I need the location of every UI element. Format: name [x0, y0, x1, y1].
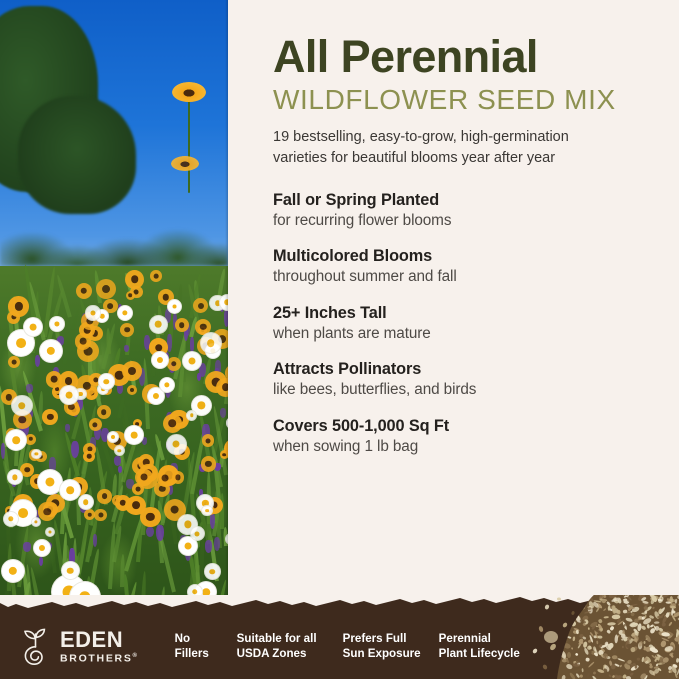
purple-salvia	[156, 525, 163, 541]
feature-item-planting: Fall or Spring Planted for recurring flo…	[273, 191, 679, 230]
black-eyed-susan	[167, 357, 181, 371]
badge-plant-lifecycle: Perennial Plant Lifecycle	[439, 631, 549, 662]
feature-subtext: like bees, butterflies, and birds	[273, 381, 679, 399]
feature-item-pollinators: Attracts Pollinators like bees, butterfl…	[273, 360, 679, 399]
shasta-daisy	[86, 306, 99, 319]
shasta-daisy	[12, 396, 32, 416]
shasta-daisy	[201, 333, 221, 353]
product-infographic-card: All Perennial WILDFLOWER SEED MIX 19 bes…	[0, 0, 679, 679]
product-details-panel: All Perennial WILDFLOWER SEED MIX 19 bes…	[228, 0, 679, 679]
badge-usda-zones: Suitable for all USDA Zones	[237, 631, 343, 662]
feature-subtext: throughout summer and fall	[273, 268, 679, 286]
footer-content: EDEN BROTHERS® No Fillers Suitable for a…	[0, 613, 679, 679]
badge-line-2: Sun Exposure	[343, 646, 439, 661]
badge-line-1: Prefers Full	[343, 631, 439, 646]
purple-salvia	[35, 355, 40, 367]
wildflower-meadow-photo	[0, 0, 228, 604]
logo-brand-name: EDEN	[60, 629, 139, 651]
black-eyed-susan	[25, 434, 36, 445]
feature-item-height: 25+ Inches Tall when plants are mature	[273, 304, 679, 343]
black-eyed-susan	[8, 356, 20, 368]
badge-line-1: No	[175, 631, 237, 646]
black-eyed-susan	[157, 469, 174, 486]
shasta-daisy	[118, 306, 132, 320]
tall-yellow-flower-lower	[171, 156, 199, 171]
page-title: All Perennial	[273, 34, 679, 80]
black-eyed-susan	[83, 451, 94, 462]
shasta-daisy	[60, 480, 80, 500]
shasta-daisy	[60, 386, 78, 404]
badge-line-2: Plant Lifecycle	[439, 646, 549, 661]
description-line-2: varieties for beautiful blooms year afte…	[273, 148, 679, 169]
shasta-daisy	[40, 340, 62, 362]
shasta-daisy	[125, 426, 143, 444]
black-eyed-susan	[122, 361, 142, 381]
purple-salvia	[23, 542, 31, 552]
badge-no-fillers: No Fillers	[175, 631, 237, 662]
purple-salvia	[39, 557, 43, 566]
shasta-daisy	[8, 470, 22, 484]
feature-heading: Multicolored Blooms	[273, 247, 679, 266]
feature-subtext: when plants are mature	[273, 325, 679, 343]
feature-list: Fall or Spring Planted for recurring flo…	[273, 191, 679, 456]
footer-bar: EDEN BROTHERS® No Fillers Suitable for a…	[0, 595, 679, 679]
purple-salvia	[214, 537, 220, 551]
shasta-daisy	[205, 564, 220, 579]
shasta-daisy	[2, 560, 24, 582]
black-eyed-susan	[120, 323, 134, 337]
black-eyed-susan	[150, 270, 162, 282]
shasta-daisy	[50, 317, 64, 331]
purple-salvia	[93, 534, 98, 547]
shasta-daisy	[38, 470, 62, 494]
feature-subtext: when sowing 1 lb bag	[273, 438, 679, 456]
badge-line-2: Fillers	[175, 646, 237, 661]
black-eyed-susan	[163, 414, 182, 433]
purple-salvia	[142, 437, 147, 444]
black-eyed-susan	[202, 434, 214, 446]
black-eyed-susan	[89, 418, 102, 431]
shasta-daisy	[167, 435, 186, 454]
black-eyed-susan	[126, 291, 135, 300]
feature-heading: Fall or Spring Planted	[273, 191, 679, 210]
footer-badge-list: No Fillers Suitable for all USDA Zones P…	[175, 631, 549, 662]
shasta-daisy	[115, 446, 124, 455]
feature-item-coverage: Covers 500-1,000 Sq Ft when sowing 1 lb …	[273, 417, 679, 456]
shasta-daisy	[34, 540, 50, 556]
badge-sun-exposure: Prefers Full Sun Exposure	[343, 631, 439, 662]
logo-brand-tagline: BROTHERS®	[60, 653, 139, 664]
shasta-daisy	[6, 430, 26, 450]
conifer-tree-lower	[18, 96, 136, 214]
description-line-1: 19 bestselling, easy-to-grow, high-germi…	[273, 127, 679, 148]
torn-soil-edge	[0, 595, 679, 612]
black-eyed-susan	[97, 405, 111, 419]
badge-line-1: Perennial	[439, 631, 549, 646]
feature-heading: 25+ Inches Tall	[273, 304, 679, 323]
feature-subtext: for recurring flower blooms	[273, 212, 679, 230]
logo-tagline-text: BROTHERS	[60, 652, 133, 664]
feature-item-blooms: Multicolored Blooms throughout summer an…	[273, 247, 679, 286]
black-eyed-susan	[97, 489, 112, 504]
purple-salvia	[146, 527, 154, 537]
purple-salvia	[26, 384, 33, 393]
purple-salvia	[190, 337, 195, 353]
badge-line-2: USDA Zones	[237, 646, 343, 661]
black-eyed-susan	[46, 371, 63, 388]
black-eyed-susan	[76, 283, 92, 299]
shasta-daisy	[99, 374, 113, 388]
black-eyed-susan	[94, 509, 107, 522]
shasta-daisy	[187, 411, 196, 420]
black-eyed-susan	[175, 318, 189, 332]
logo-wordmark: EDEN BROTHERS®	[60, 629, 139, 664]
product-description: 19 bestselling, easy-to-grow, high-germi…	[273, 127, 679, 170]
shasta-daisy	[152, 352, 168, 368]
black-eyed-susan	[42, 409, 58, 425]
shasta-daisy	[32, 450, 40, 458]
tall-yellow-flower	[172, 82, 206, 102]
feature-heading: Attracts Pollinators	[273, 360, 679, 379]
purple-salvia	[65, 424, 70, 432]
product-subtitle: WILDFLOWER SEED MIX	[273, 85, 679, 116]
black-eyed-susan	[135, 469, 152, 486]
shasta-daisy	[179, 537, 197, 555]
registered-trademark: ®	[133, 653, 139, 659]
feature-heading: Covers 500-1,000 Sq Ft	[273, 417, 679, 436]
shasta-daisy	[4, 512, 18, 526]
black-eyed-susan	[38, 502, 57, 521]
black-eyed-susan	[8, 296, 29, 317]
shasta-daisy	[62, 562, 79, 579]
shasta-daisy	[168, 300, 181, 313]
shasta-daisy	[24, 318, 42, 336]
shasta-daisy	[160, 378, 174, 392]
brand-logo[interactable]: EDEN BROTHERS®	[18, 626, 139, 666]
badge-line-1: Suitable for all	[237, 631, 343, 646]
black-eyed-susan	[201, 456, 217, 472]
sprout-seedling-icon	[18, 626, 54, 666]
black-eyed-susan	[140, 507, 161, 528]
tall-flower-stem	[188, 93, 190, 193]
black-eyed-susan	[96, 279, 116, 299]
